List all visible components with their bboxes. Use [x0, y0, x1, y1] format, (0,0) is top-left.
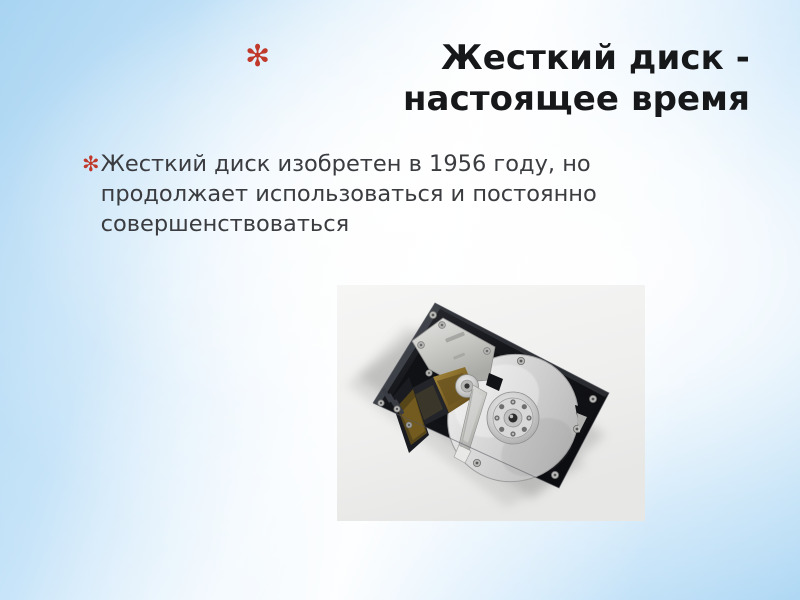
asterisk-bullet-icon: ✻	[82, 154, 100, 175]
page-title: Жесткий диск - настоящее время	[270, 38, 750, 121]
slide-title: ✻ Жесткий диск - настоящее время	[245, 38, 750, 121]
body-bullet-item: ✻ Жесткий диск изобретен в 1956 году, но…	[82, 150, 622, 240]
hard-drive-illustration	[337, 285, 645, 521]
asterisk-bullet-icon: ✻	[245, 42, 270, 72]
hard-drive-photo	[337, 285, 645, 521]
body-text: Жесткий диск изобретен в 1956 году, но п…	[100, 150, 622, 240]
slide: ✻ Жесткий диск - настоящее время ✻ Жестк…	[0, 0, 800, 600]
